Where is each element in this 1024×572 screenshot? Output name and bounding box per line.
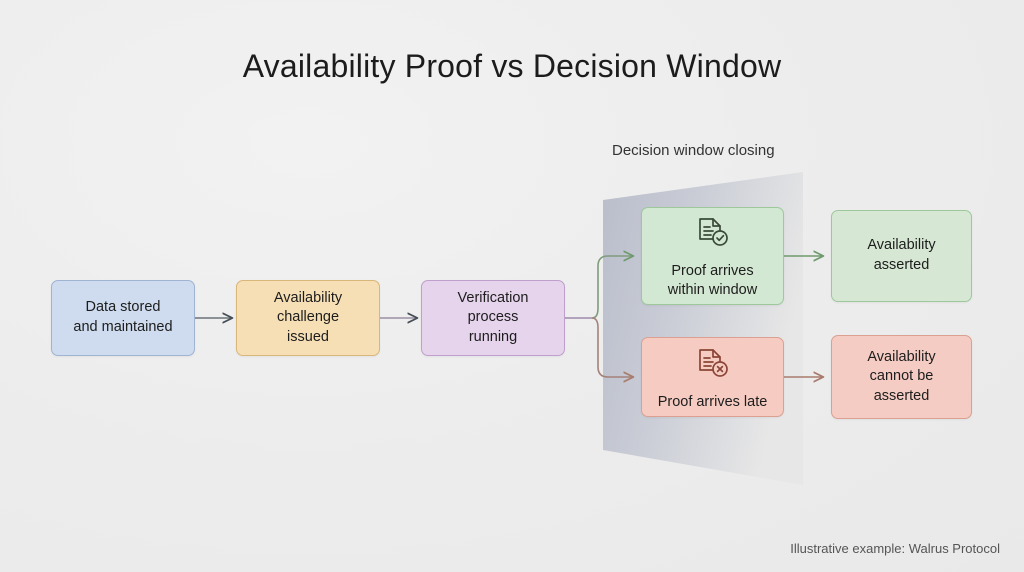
node-verification-process-label: Verification process running xyxy=(458,289,529,348)
node-availability-not-asserted[interactable]: Availability cannot be asserted xyxy=(831,335,972,419)
node-availability-not-asserted-label: Availability cannot be asserted xyxy=(867,348,935,407)
node-data-stored[interactable]: Data stored and maintained xyxy=(51,280,195,356)
node-verification-process[interactable]: Verification process running xyxy=(421,280,565,356)
slide-canvas: Availability Proof vs Decision Window De… xyxy=(0,0,1024,572)
node-proof-in-window-label: Proof arrives within window xyxy=(668,262,757,301)
node-data-stored-label: Data stored and maintained xyxy=(73,298,172,337)
node-availability-challenge[interactable]: Availability challenge issued xyxy=(236,280,380,356)
document-x-icon xyxy=(693,346,733,389)
node-availability-asserted[interactable]: Availability asserted xyxy=(831,210,972,302)
edge-verification-to-late xyxy=(592,318,633,377)
node-availability-challenge-label: Availability challenge issued xyxy=(274,289,342,348)
node-availability-asserted-label: Availability asserted xyxy=(867,236,935,275)
node-proof-late[interactable]: Proof arrives late xyxy=(641,337,784,417)
document-check-icon xyxy=(693,215,733,258)
node-proof-late-label: Proof arrives late xyxy=(658,393,768,413)
edge-verification-to-in-window xyxy=(592,256,633,318)
node-proof-in-window[interactable]: Proof arrives within window xyxy=(641,207,784,305)
